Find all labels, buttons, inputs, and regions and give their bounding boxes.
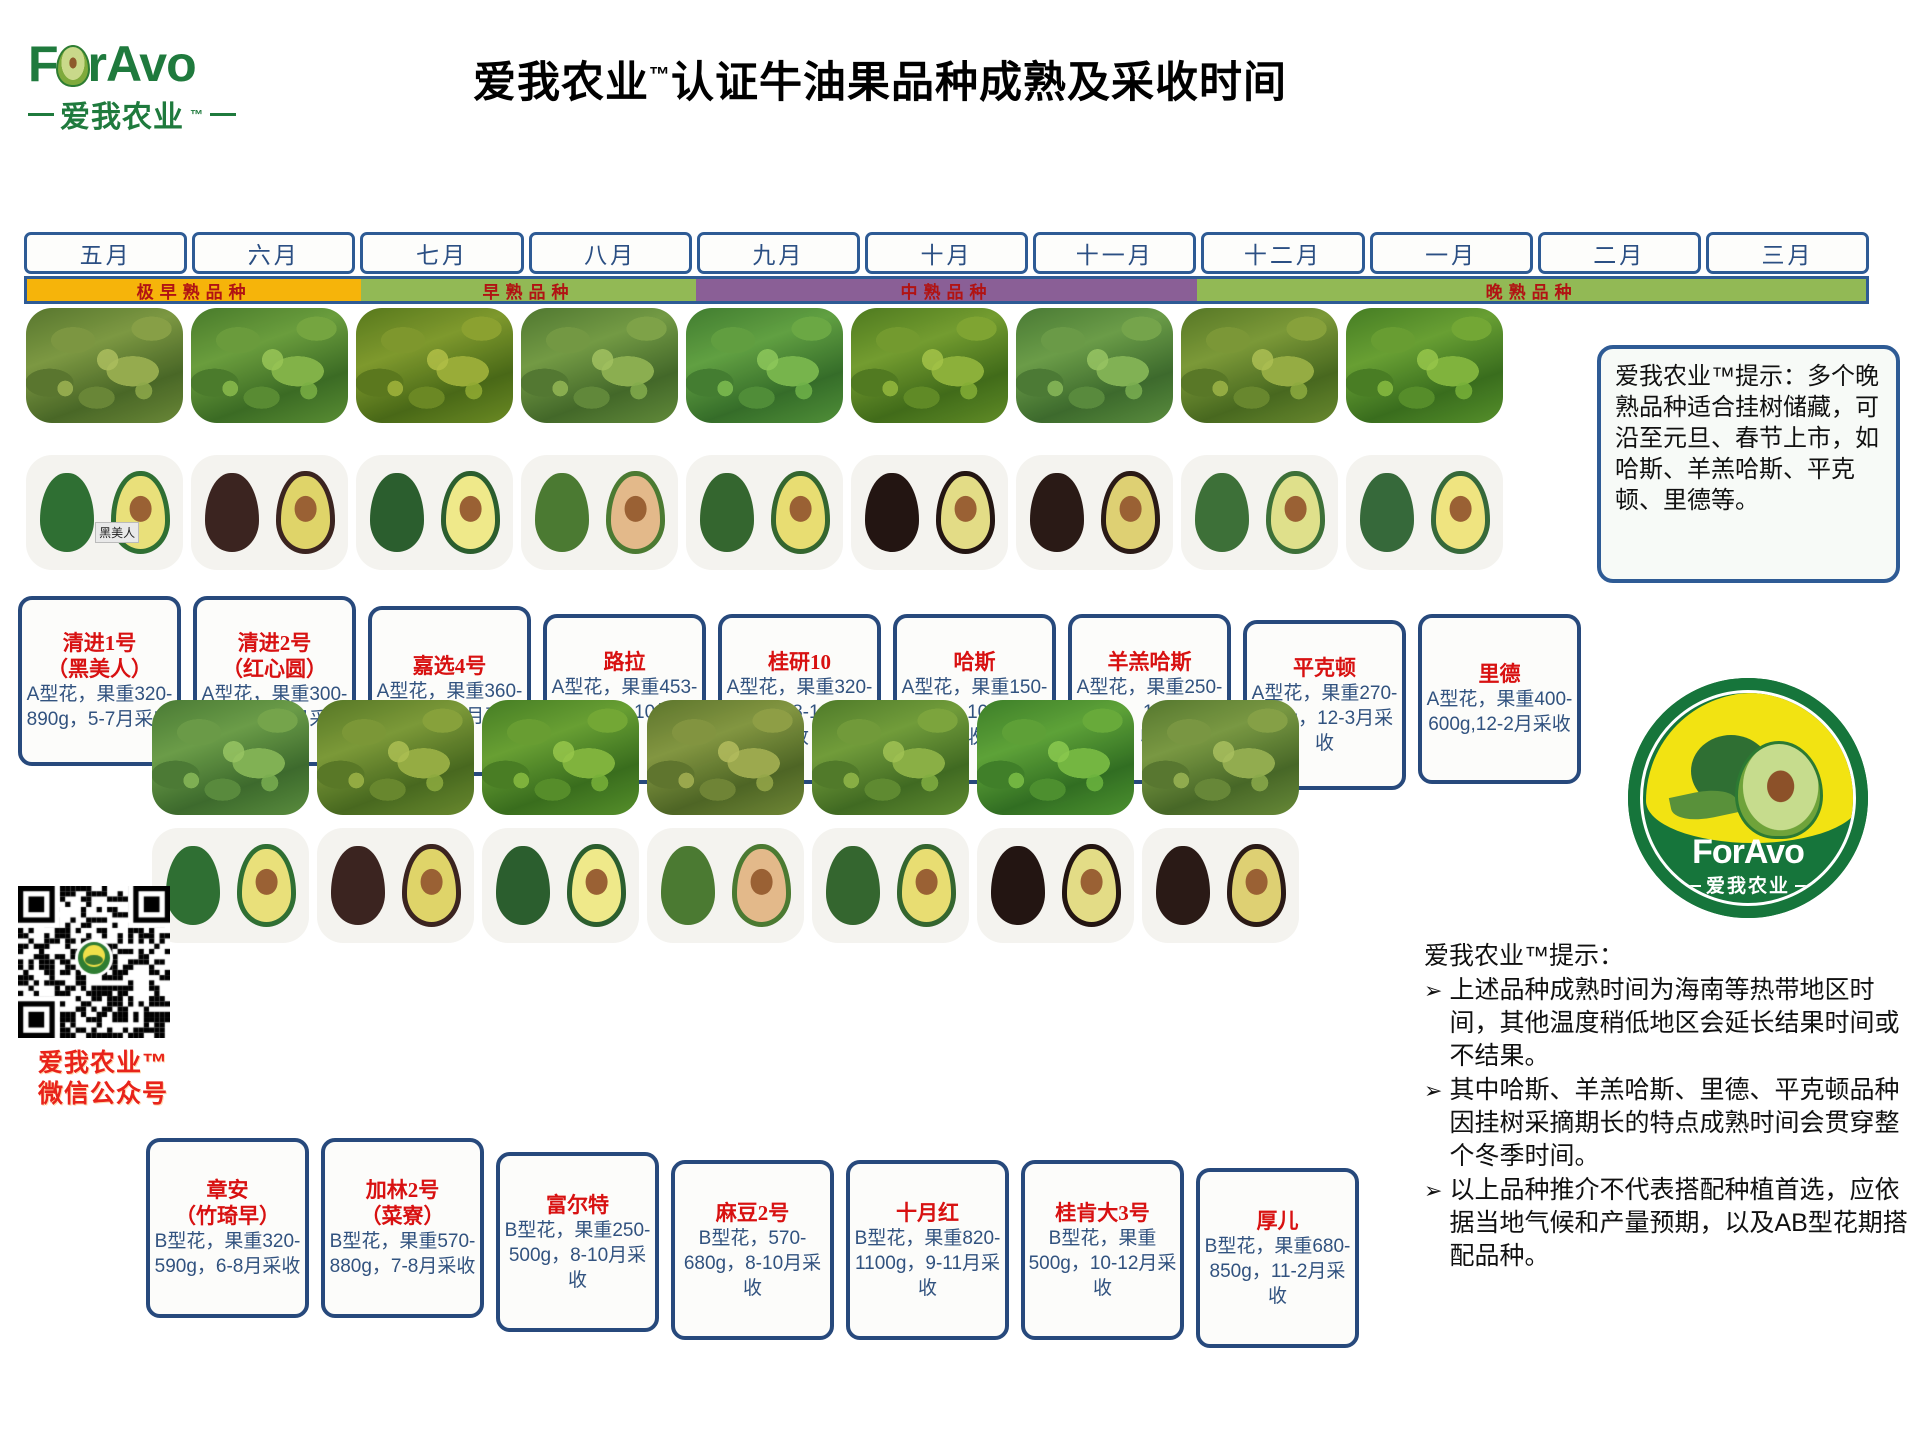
notes-block: 爱我农业™提示： ➢上述品种成熟时间为海南等热带地区时间，其他温度稍低地区会延长… — [1424, 940, 1914, 1274]
notes-list: ➢上述品种成熟时间为海南等热带地区时间，其他温度稍低地区会延长结果时间或不结果。… — [1424, 974, 1914, 1273]
month-cell: 十月 — [865, 232, 1028, 274]
variety-description: B型花，570-680g，8-10月采收 — [678, 1226, 827, 1301]
logo-rule-left — [28, 113, 54, 116]
avocado-fruit-photo: 黑美人 — [26, 455, 183, 570]
avocado-pit-shape — [255, 869, 278, 895]
avocado-tree-photo — [1181, 308, 1338, 423]
photo-row-tree-bottom — [152, 700, 1299, 815]
avocado-fruit-photo — [1181, 455, 1338, 570]
avocado-pit-shape — [1284, 496, 1307, 522]
avocado-whole-shape — [1030, 473, 1083, 551]
avocado-half-shape — [1266, 471, 1326, 554]
avocado-tree-photo — [851, 308, 1008, 423]
title-tm-mark: ™ — [649, 64, 671, 87]
avocado-tree-photo — [1346, 308, 1503, 423]
tip-box-upper: 爱我农业™提示：多个晚熟品种适合挂树储藏，可沿至元旦、春节上市，如哈斯、羊羔哈斯… — [1597, 345, 1900, 583]
photo-row-tree-top — [26, 308, 1503, 423]
avocado-whole-shape — [370, 473, 423, 551]
avocado-pit-shape — [789, 496, 812, 522]
variety-alias: （红心圆） — [222, 656, 327, 682]
avocado-icon — [56, 45, 90, 87]
variety-description: B型花，果重500g，10-12月采收 — [1028, 1226, 1177, 1301]
photo-row-fruit-bottom — [152, 828, 1299, 943]
avocado-half-shape — [567, 844, 627, 927]
avocado-pit-shape — [750, 869, 773, 895]
variety-name: 桂研10 — [768, 649, 831, 675]
avocado-pit-shape — [1080, 869, 1103, 895]
variety-name: 麻豆2号 — [716, 1200, 790, 1226]
variety-card[interactable]: 桂肯大3号B型花，果重500g，10-12月采收 — [1021, 1160, 1184, 1340]
bullet-arrow-icon: ➢ — [1424, 1074, 1442, 1107]
variety-name: 里德 — [1479, 661, 1521, 687]
season-segment: 中熟品种 — [696, 279, 1198, 301]
logo-chinese-name: 爱我农业™ — [28, 92, 278, 136]
month-cell: 九月 — [697, 232, 860, 274]
logo-wordmark: FrAvo — [28, 38, 278, 90]
avocado-tree-photo — [812, 700, 969, 815]
month-cell: 二月 — [1538, 232, 1701, 274]
variety-card[interactable]: 麻豆2号B型花，570-680g，8-10月采收 — [671, 1160, 834, 1340]
variety-alias: （竹琦早） — [175, 1203, 280, 1229]
variety-card[interactable]: 厚儿B型花，果重680-850g，11-2月采收 — [1196, 1168, 1359, 1348]
logo-word-pre: F — [28, 36, 58, 92]
avocado-whole-shape — [661, 846, 714, 924]
variety-card[interactable]: 章安（竹琦早）B型花，果重320-590g，6-8月采收 — [146, 1138, 309, 1318]
avocado-tree-photo — [977, 700, 1134, 815]
month-cell: 八月 — [529, 232, 692, 274]
avocado-fruit-photo — [521, 455, 678, 570]
avocado-tree-photo — [1142, 700, 1299, 815]
avocado-fruit-photo — [1142, 828, 1299, 943]
avocado-whole-shape — [1360, 473, 1413, 551]
month-cell: 一月 — [1370, 232, 1533, 274]
avocado-tree-photo — [26, 308, 183, 423]
avocado-tree-photo — [1016, 308, 1173, 423]
avocado-pit-shape — [420, 869, 443, 895]
avocado-pit-shape — [585, 869, 608, 895]
month-cell: 五月 — [24, 232, 187, 274]
month-cell: 三月 — [1706, 232, 1869, 274]
avocado-pit-shape — [1449, 496, 1472, 522]
avocado-whole-shape — [535, 473, 588, 551]
qr-caption-line2: 微信公众号 — [18, 1079, 188, 1110]
variety-name: 清进2号 — [238, 630, 312, 656]
avocado-whole-shape — [331, 846, 384, 924]
title-pre: 爱我农业 — [473, 59, 649, 107]
variety-description: B型花，果重680-850g，11-2月采收 — [1203, 1234, 1352, 1309]
infographic-page: FrAvo 爱我农业™ 爱我农业™认证牛油果品种成熟及采收时间 五月六月七月八月… — [0, 0, 1920, 1440]
variety-name: 富尔特 — [546, 1192, 609, 1218]
variety-name: 哈斯 — [954, 649, 996, 675]
badge-inner-ring: ForAvo 爱我农业 — [1640, 690, 1856, 906]
variety-name: 加林2号 — [366, 1177, 440, 1203]
variety-description: A型花，果重400-600g,12-2月采收 — [1425, 687, 1574, 737]
month-cell: 十二月 — [1201, 232, 1364, 274]
badge-wordmark: ForAvo — [1643, 833, 1853, 872]
avocado-half-shape — [402, 844, 462, 927]
avocado-half-shape — [237, 844, 297, 927]
season-segment: 极早熟品种 — [27, 279, 361, 301]
avocado-fruit-photo — [686, 455, 843, 570]
variety-card[interactable]: 里德A型花，果重400-600g,12-2月采收 — [1418, 614, 1581, 784]
avocado-tree-photo — [317, 700, 474, 815]
avocado-fruit-photo — [317, 828, 474, 943]
season-band: 极早熟品种早熟品种中熟品种晚熟品种 — [24, 276, 1869, 304]
avocado-half-shape — [936, 471, 996, 554]
variety-description: B型花，果重250-500g，8-10月采收 — [503, 1218, 652, 1293]
variety-name: 羊羔哈斯 — [1108, 649, 1192, 675]
avocado-whole-shape — [496, 846, 549, 924]
variety-name: 平克顿 — [1293, 655, 1356, 681]
variety-card[interactable]: 加林2号（菜寮）B型花，果重570-880g，7-8月采收 — [321, 1138, 484, 1318]
avocado-fruit-photo — [977, 828, 1134, 943]
page-title: 爱我农业™认证牛油果品种成熟及采收时间 — [330, 48, 1430, 110]
avocado-fruit-photo — [356, 455, 513, 570]
avocado-whole-shape — [826, 846, 879, 924]
avocado-pit-shape — [459, 496, 482, 522]
avocado-tree-photo — [647, 700, 804, 815]
variety-name: 厚儿 — [1257, 1208, 1299, 1234]
variety-card[interactable]: 富尔特B型花，果重250-500g，8-10月采收 — [496, 1152, 659, 1332]
wechat-qr-block: 爱我农业™ 微信公众号 — [18, 886, 188, 1110]
avocado-half-icon — [1735, 741, 1823, 839]
avocado-pit-shape — [954, 496, 977, 522]
month-cell: 十一月 — [1033, 232, 1196, 274]
avocado-tree-photo — [686, 308, 843, 423]
avocado-fruit-photo — [647, 828, 804, 943]
avocado-pit-shape — [129, 496, 152, 522]
variety-name: 嘉选4号 — [413, 653, 487, 679]
avocado-pit-shape — [915, 869, 938, 895]
month-cell: 六月 — [192, 232, 355, 274]
variety-description: B型花，果重820-1100g，9-11月采收 — [853, 1226, 1002, 1301]
season-segment: 晚熟品种 — [1197, 279, 1866, 301]
logo-word-post: rAvo — [88, 36, 196, 92]
avocado-half-shape — [1062, 844, 1122, 927]
avocado-pit-shape — [1119, 496, 1142, 522]
avocado-tree-photo — [356, 308, 513, 423]
bullet-arrow-icon: ➢ — [1424, 1174, 1442, 1207]
avocado-half-shape — [606, 471, 666, 554]
badge-cn-text: 爱我农业 — [1706, 876, 1790, 897]
note-item: ➢以上品种推介不代表搭配种植首选，应依据当地气候和产量预期，以及AB型花期搭配品… — [1424, 1174, 1914, 1273]
avocado-fruit-photo — [1016, 455, 1173, 570]
avocado-tree-photo — [152, 700, 309, 815]
season-segment: 早熟品种 — [361, 279, 695, 301]
avocado-tree-photo — [521, 308, 678, 423]
logo-cn-text: 爱我农业 — [60, 92, 184, 136]
note-text: 以上品种推介不代表搭配种植首选，应依据当地气候和产量预期，以及AB型花期搭配品种… — [1449, 1174, 1914, 1273]
month-row: 五月六月七月八月九月十月十一月十二月一月二月三月 — [24, 232, 1869, 274]
avocado-half-shape — [1431, 471, 1491, 554]
avocado-half-shape — [276, 471, 336, 554]
avocado-pit-shape — [294, 496, 317, 522]
note-item: ➢其中哈斯、羊羔哈斯、里德、平克顿品种因挂树采摘期长的特点成熟时间会贯穿整个冬季… — [1424, 1074, 1914, 1173]
photo-row-fruit-top: 黑美人 — [26, 455, 1503, 570]
avocado-half-shape — [1101, 471, 1161, 554]
qr-caption: 爱我农业™ 微信公众号 — [18, 1048, 188, 1110]
avocado-whole-shape — [205, 473, 258, 551]
variety-alias: （黑美人） — [47, 656, 152, 682]
note-text: 上述品种成熟时间为海南等热带地区时间，其他温度稍低地区会延长结果时间或不结果。 — [1449, 974, 1914, 1073]
avocado-whole-shape — [865, 473, 918, 551]
note-text: 其中哈斯、羊羔哈斯、里德、平克顿品种因挂树采摘期长的特点成熟时间会贯穿整个冬季时… — [1449, 1074, 1914, 1173]
photo-caption-label: 黑美人 — [95, 522, 139, 543]
logo-tm-mark: ™ — [190, 107, 204, 122]
foravo-logo: FrAvo 爱我农业™ — [28, 38, 278, 138]
avocado-fruit-photo — [1346, 455, 1503, 570]
avocado-fruit-photo — [482, 828, 639, 943]
badge-chinese-name: 爱我农业 — [1643, 871, 1853, 898]
avocado-half-shape — [732, 844, 792, 927]
bullet-arrow-icon: ➢ — [1424, 974, 1442, 1007]
avocado-fruit-photo — [812, 828, 969, 943]
avocado-whole-shape — [40, 473, 93, 551]
title-post: 认证牛油果品种成熟及采收时间 — [671, 59, 1287, 107]
avocado-pit-shape — [1245, 869, 1268, 895]
avocado-tree-photo — [482, 700, 639, 815]
logo-rule-right — [210, 113, 236, 116]
variety-card[interactable]: 十月红B型花，果重820-1100g，9-11月采收 — [846, 1160, 1009, 1340]
qr-code-icon — [18, 886, 170, 1038]
notes-heading: 爱我农业™提示： — [1424, 940, 1914, 972]
avocado-half-shape — [897, 844, 957, 927]
variety-name: 桂肯大3号 — [1055, 1200, 1150, 1226]
avocado-half-shape — [441, 471, 501, 554]
tip-box-text: 爱我农业™提示：多个晚熟品种适合挂树储藏，可沿至元旦、春节上市，如哈斯、羊羔哈斯… — [1615, 361, 1882, 516]
variety-description: B型花，果重570-880g，7-8月采收 — [328, 1229, 477, 1279]
avocado-half-shape — [771, 471, 831, 554]
avocado-fruit-photo — [851, 455, 1008, 570]
foravo-seal-badge: ForAvo 爱我农业 — [1628, 678, 1868, 918]
avocado-pit-shape — [624, 496, 647, 522]
avocado-fruit-photo — [191, 455, 348, 570]
variety-name: 路拉 — [604, 649, 646, 675]
month-cell: 七月 — [360, 232, 523, 274]
variety-name: 十月红 — [896, 1200, 959, 1226]
avocado-tree-photo — [191, 308, 348, 423]
avocado-whole-shape — [1195, 473, 1248, 551]
variety-alias: （菜寮） — [361, 1203, 445, 1229]
avocado-whole-shape — [700, 473, 753, 551]
variety-name: 章安 — [207, 1177, 249, 1203]
avocado-whole-shape — [1156, 846, 1209, 924]
avocado-whole-shape — [991, 846, 1044, 924]
avocado-half-shape — [1227, 844, 1287, 927]
note-item: ➢上述品种成熟时间为海南等热带地区时间，其他温度稍低地区会延长结果时间或不结果。 — [1424, 974, 1914, 1073]
variety-name: 清进1号 — [63, 630, 137, 656]
variety-description: B型花，果重320-590g，6-8月采收 — [153, 1229, 302, 1279]
qr-caption-line1: 爱我农业™ — [18, 1048, 188, 1079]
